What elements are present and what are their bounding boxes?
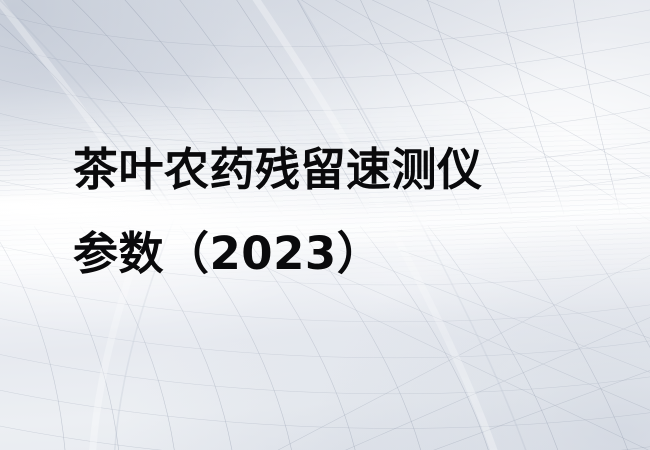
title-banner: 茶叶农药残留速测仪 参数（2023） xyxy=(0,0,650,450)
banner-title: 茶叶农药残留速测仪 参数（2023） xyxy=(73,128,593,296)
banner-title-line-1: 茶叶农药残留速测仪 xyxy=(73,128,593,212)
banner-title-line-2: 参数（2023） xyxy=(73,212,593,296)
